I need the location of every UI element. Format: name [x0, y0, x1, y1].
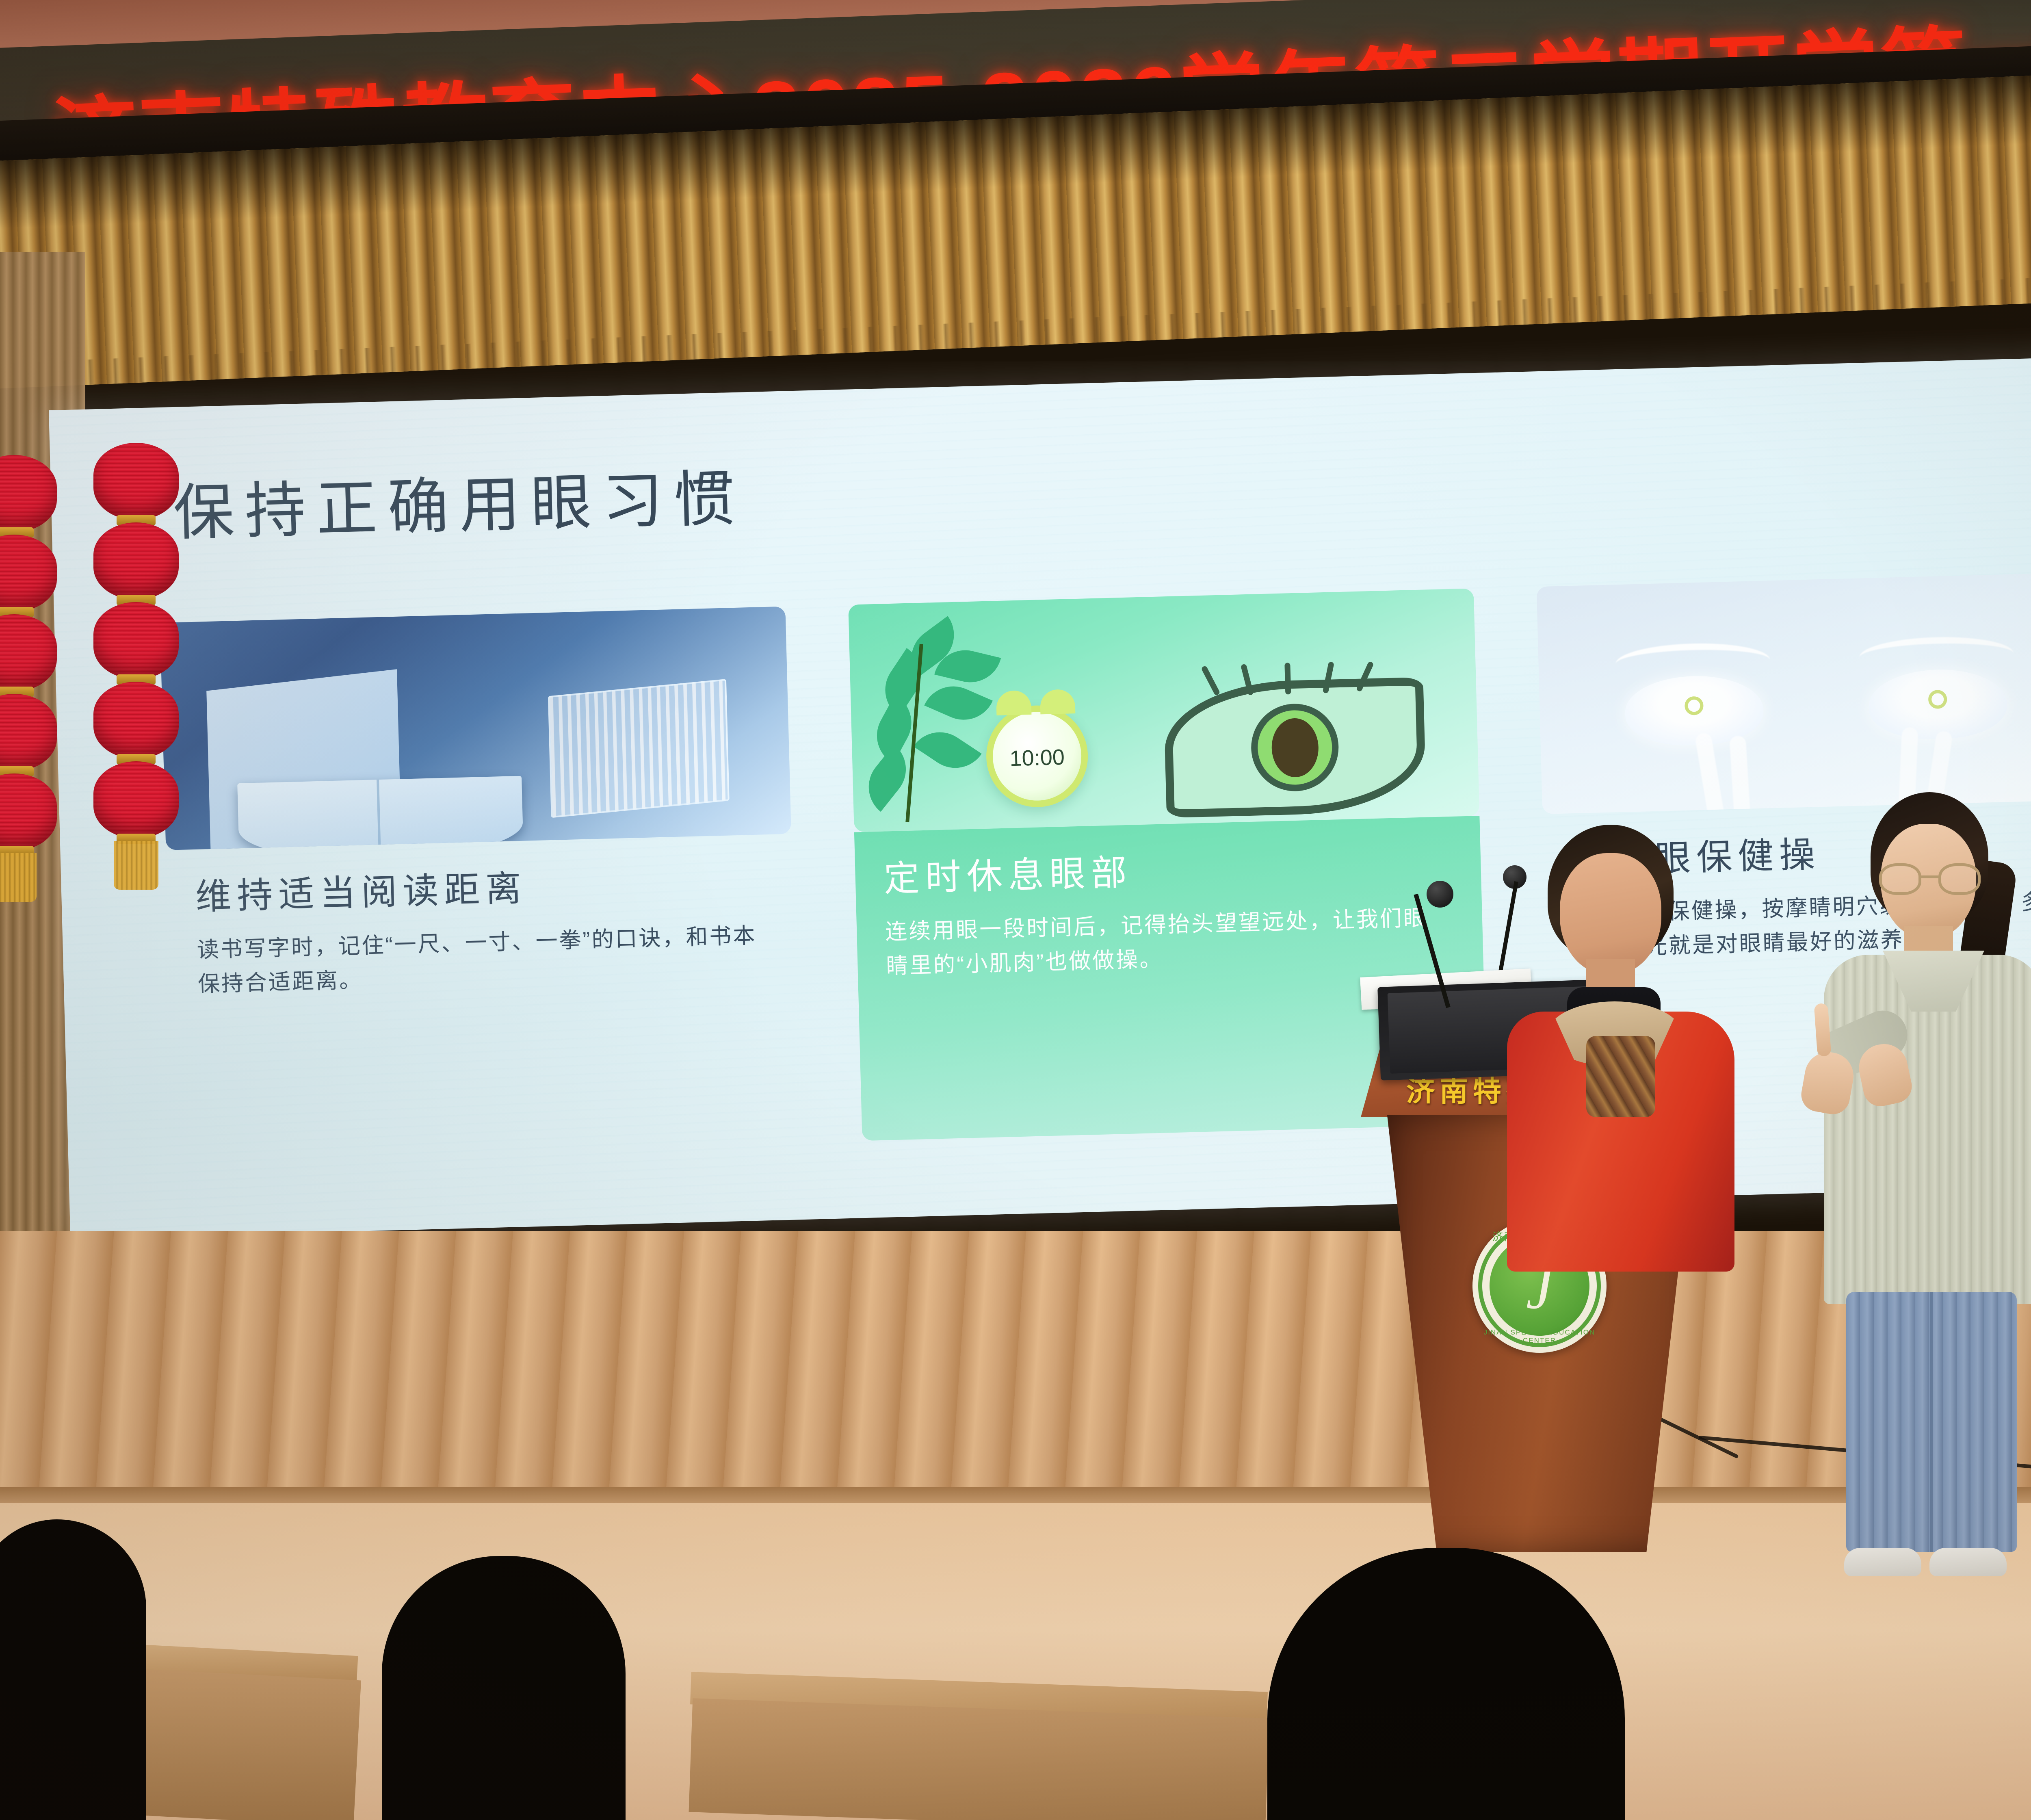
sign-language-interpreter-person [1808, 792, 2031, 1572]
interpreter-shoe-left [1844, 1548, 1921, 1576]
interpreter-shoe-right [1929, 1548, 2007, 1576]
lantern-tassel [0, 853, 37, 902]
audience-head-silhouette [382, 1556, 626, 1820]
speaker-face [1560, 853, 1661, 975]
microphone-head [1427, 881, 1453, 908]
audience-bench-seat [689, 1698, 1269, 1820]
lantern-tassel [114, 841, 158, 890]
photo-scene: 济南特殊教育中心2025-2026学年第二学期开学第一课 维持适当阅读距离 保持… [0, 0, 2031, 1820]
lantern-string-left-1 [0, 455, 57, 902]
lantern-string-left-2 [93, 443, 179, 890]
eyeglasses-icon [1879, 863, 1981, 895]
speaker-scarf [1586, 1036, 1655, 1117]
interpreter-jeans [1846, 1292, 2017, 1552]
audience-head-silhouette [0, 1519, 146, 1820]
speaker-person [1499, 825, 1751, 1255]
